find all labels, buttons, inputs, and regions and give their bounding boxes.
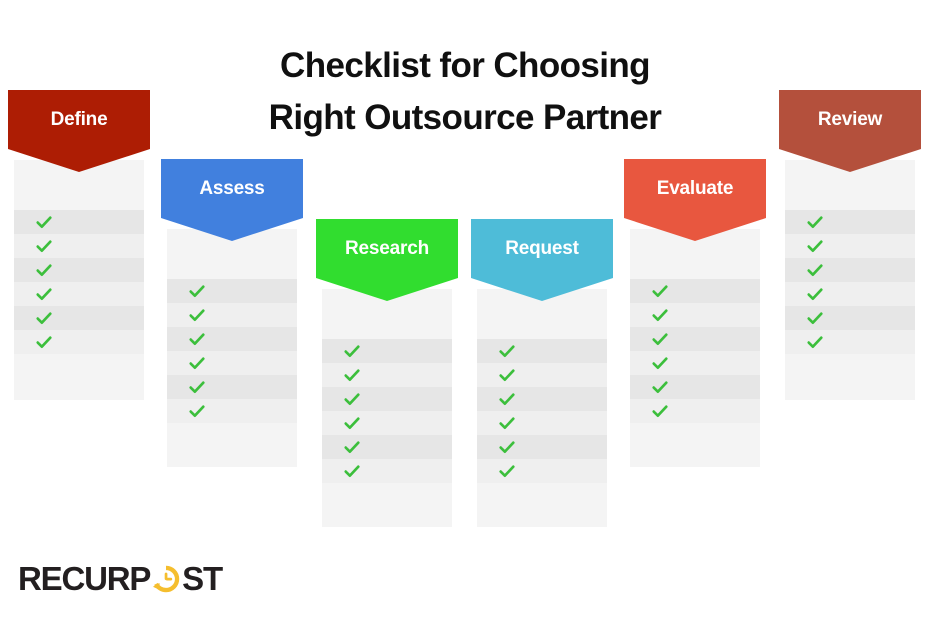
clock-refresh-icon — [151, 564, 181, 594]
check-icon — [343, 438, 361, 456]
checklist-item[interactable] — [630, 399, 760, 423]
checklist-item[interactable] — [14, 210, 144, 234]
check-icon — [188, 378, 206, 396]
checklist-item[interactable] — [785, 330, 915, 354]
checklist-panel-research — [322, 289, 452, 527]
checklist-banner-label: Review — [818, 109, 882, 131]
check-icon — [498, 414, 516, 432]
checklist-rows-request — [477, 339, 607, 483]
check-icon — [343, 462, 361, 480]
checklist-panel-request — [477, 289, 607, 527]
check-icon — [35, 309, 53, 327]
check-icon — [188, 282, 206, 300]
checklist-item[interactable] — [477, 387, 607, 411]
checklist-item[interactable] — [477, 411, 607, 435]
check-icon — [188, 306, 206, 324]
check-icon — [188, 354, 206, 372]
check-icon — [651, 378, 669, 396]
check-icon — [343, 390, 361, 408]
checklist-item[interactable] — [322, 435, 452, 459]
checklist-item[interactable] — [630, 351, 760, 375]
checklist-item[interactable] — [167, 399, 297, 423]
check-icon — [498, 342, 516, 360]
check-icon — [343, 414, 361, 432]
checklist-item[interactable] — [785, 210, 915, 234]
check-icon — [343, 366, 361, 384]
checklist-banner-label: Define — [51, 109, 108, 131]
recurpost-logo: RECURP ST — [18, 562, 222, 596]
checklist-banner-label: Research — [345, 238, 429, 260]
checklist-item[interactable] — [322, 363, 452, 387]
checklist-item[interactable] — [630, 375, 760, 399]
check-icon — [806, 333, 824, 351]
checklist-panel-assess — [167, 229, 297, 467]
checklist-item[interactable] — [477, 363, 607, 387]
check-icon — [806, 285, 824, 303]
check-icon — [498, 462, 516, 480]
check-icon — [35, 237, 53, 255]
check-icon — [188, 330, 206, 348]
check-icon — [651, 354, 669, 372]
check-icon — [498, 366, 516, 384]
check-icon — [188, 402, 206, 420]
check-icon — [651, 330, 669, 348]
check-icon — [806, 237, 824, 255]
checklist-item[interactable] — [785, 258, 915, 282]
checklist-rows-assess — [167, 279, 297, 423]
checklist-item[interactable] — [477, 459, 607, 483]
check-icon — [651, 282, 669, 300]
check-icon — [498, 438, 516, 456]
logo-text-right: ST — [182, 562, 222, 596]
check-icon — [35, 333, 53, 351]
checklist-item[interactable] — [167, 375, 297, 399]
checklist-rows-research — [322, 339, 452, 483]
check-icon — [806, 261, 824, 279]
check-icon — [651, 306, 669, 324]
checklist-rows-evaluate — [630, 279, 760, 423]
checklist-panel-evaluate — [630, 229, 760, 467]
checklist-item[interactable] — [630, 303, 760, 327]
checklist-item[interactable] — [14, 306, 144, 330]
checklist-item[interactable] — [14, 258, 144, 282]
check-icon — [343, 342, 361, 360]
check-icon — [806, 309, 824, 327]
checklist-banner-label: Request — [505, 238, 579, 260]
infographic-canvas: Checklist for Choosing Right Outsource P… — [0, 0, 930, 620]
checklist-item[interactable] — [630, 327, 760, 351]
checklist-item[interactable] — [167, 327, 297, 351]
checklist-rows-review — [785, 210, 915, 354]
checklist-item[interactable] — [322, 387, 452, 411]
checklist-panel-review — [785, 160, 915, 400]
checklist-panel-define — [14, 160, 144, 400]
checklist-item[interactable] — [14, 282, 144, 306]
checklist-item[interactable] — [477, 435, 607, 459]
checklist-banner-label: Assess — [199, 178, 264, 200]
checklist-item[interactable] — [167, 303, 297, 327]
check-icon — [498, 390, 516, 408]
checklist-item[interactable] — [14, 330, 144, 354]
checklist-item[interactable] — [322, 339, 452, 363]
check-icon — [35, 261, 53, 279]
checklist-item[interactable] — [322, 411, 452, 435]
checklist-banner-label: Evaluate — [657, 178, 734, 200]
check-icon — [806, 213, 824, 231]
checklist-item[interactable] — [167, 279, 297, 303]
checklist-item[interactable] — [167, 351, 297, 375]
checklist-item[interactable] — [785, 282, 915, 306]
check-icon — [35, 285, 53, 303]
logo-text-left: RECURP — [18, 562, 150, 596]
checklist-rows-define — [14, 210, 144, 354]
checklist-item[interactable] — [785, 306, 915, 330]
checklist-item[interactable] — [630, 279, 760, 303]
checklist-item[interactable] — [322, 459, 452, 483]
check-icon — [35, 213, 53, 231]
checklist-item[interactable] — [14, 234, 144, 258]
checklist-item[interactable] — [477, 339, 607, 363]
checklist-item[interactable] — [785, 234, 915, 258]
check-icon — [651, 402, 669, 420]
